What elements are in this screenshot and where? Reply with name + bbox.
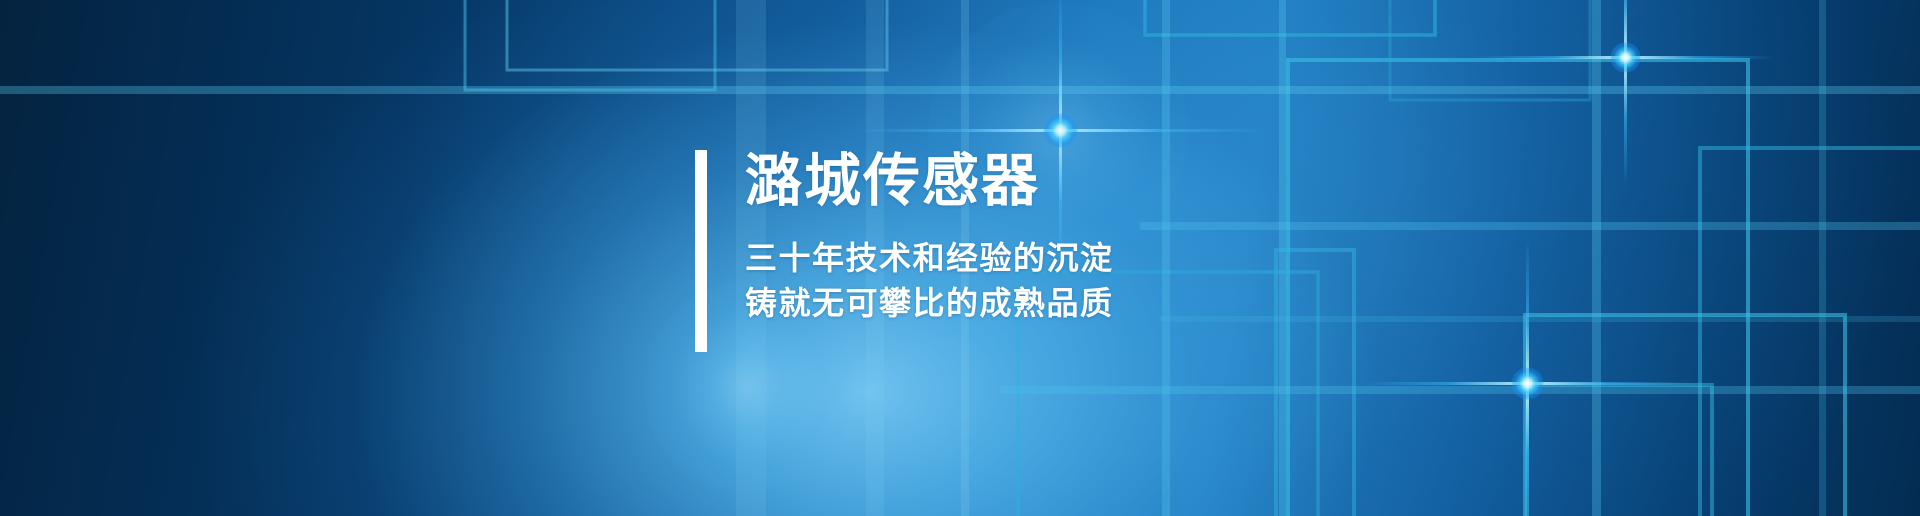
- rect-lower-mid-outline: [1525, 315, 1845, 516]
- rect-top-left-outline: [465, 0, 715, 90]
- subline-group: 三十年技术和经验的沉淀 铸就无可攀比的成熟品质: [745, 236, 1114, 327]
- band-vertical-light-d: [1162, 0, 1170, 516]
- copy-text: 潞城传感器 三十年技术和经验的沉淀 铸就无可攀比的成熟品质: [745, 150, 1114, 352]
- copy-block: 潞城传感器 三十年技术和经验的沉淀 铸就无可攀比的成熟品质: [695, 150, 1114, 352]
- rect-top-mid-outline: [507, 0, 887, 70]
- subline-2: 铸就无可攀比的成熟品质: [745, 281, 1114, 326]
- subline-1: 三十年技术和经验的沉淀: [745, 236, 1114, 281]
- band-vertical-light-f: [1592, 0, 1601, 516]
- band-horizontal-b: [1140, 222, 1920, 230]
- rect-lower-small: [1527, 385, 1712, 516]
- hero-banner: 潞城传感器 三十年技术和经验的沉淀 铸就无可攀比的成熟品质: [0, 0, 1920, 516]
- band-horizontal-a: [0, 86, 1920, 94]
- rect-big-right-outline: [1288, 60, 1748, 516]
- band-horizontal-c: [1000, 386, 1920, 394]
- rect-upper-far-right: [1390, 0, 1590, 100]
- accent-bar: [695, 150, 707, 352]
- headline: 潞城传感器: [745, 152, 1114, 212]
- rect-mid-right-outline: [1700, 148, 1920, 516]
- band-vertical-light-e: [1279, 0, 1286, 516]
- band-vertical-light-g: [1819, 0, 1826, 516]
- band-horizontal-d: [1160, 316, 1920, 322]
